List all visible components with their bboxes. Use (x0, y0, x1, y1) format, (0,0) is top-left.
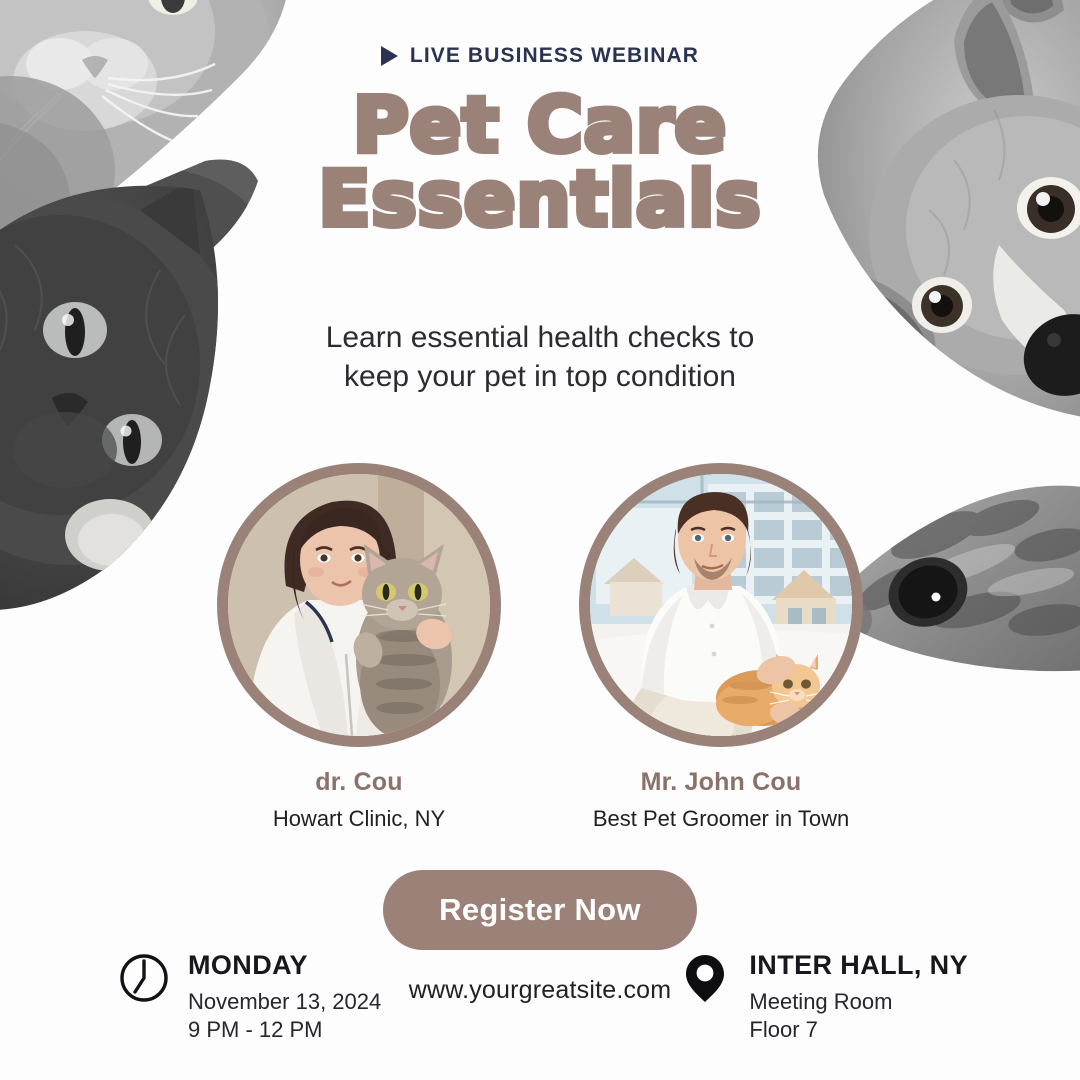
speakers-row: dr. Cou Howart Clinic, NY (209, 463, 871, 832)
register-now-button[interactable]: Register Now (383, 870, 697, 950)
play-triangle-icon (381, 46, 398, 66)
speaker-role: Best Pet Groomer in Town (593, 806, 849, 832)
speaker-card: Mr. John Cou Best Pet Groomer in Town (571, 463, 871, 832)
speaker-name: dr. Cou (315, 768, 403, 797)
avatar (217, 463, 501, 747)
eyebrow-label: LIVE BUSINESS WEBINAR (410, 44, 699, 68)
eyebrow-banner: LIVE BUSINESS WEBINAR (381, 44, 699, 68)
title-line-2: Essentials (319, 162, 762, 236)
page-title: Pet Care Essentials (319, 88, 762, 237)
avatar (579, 463, 863, 747)
speaker-role: Howart Clinic, NY (273, 806, 445, 832)
speaker-card: dr. Cou Howart Clinic, NY (209, 463, 509, 832)
poster-content: LIVE BUSINESS WEBINAR Pet Care Essential… (0, 0, 1080, 1080)
subtitle: Learn essential health checks to keep yo… (326, 318, 755, 397)
subtitle-line-2: keep your pet in top condition (344, 360, 736, 393)
poster-canvas: LIVE BUSINESS WEBINAR Pet Care Essential… (0, 0, 1080, 1080)
subtitle-line-1: Learn essential health checks to (326, 321, 755, 354)
speaker-name: Mr. John Cou (641, 768, 802, 797)
website-url[interactable]: www.yourgreatsite.com (409, 976, 672, 1005)
